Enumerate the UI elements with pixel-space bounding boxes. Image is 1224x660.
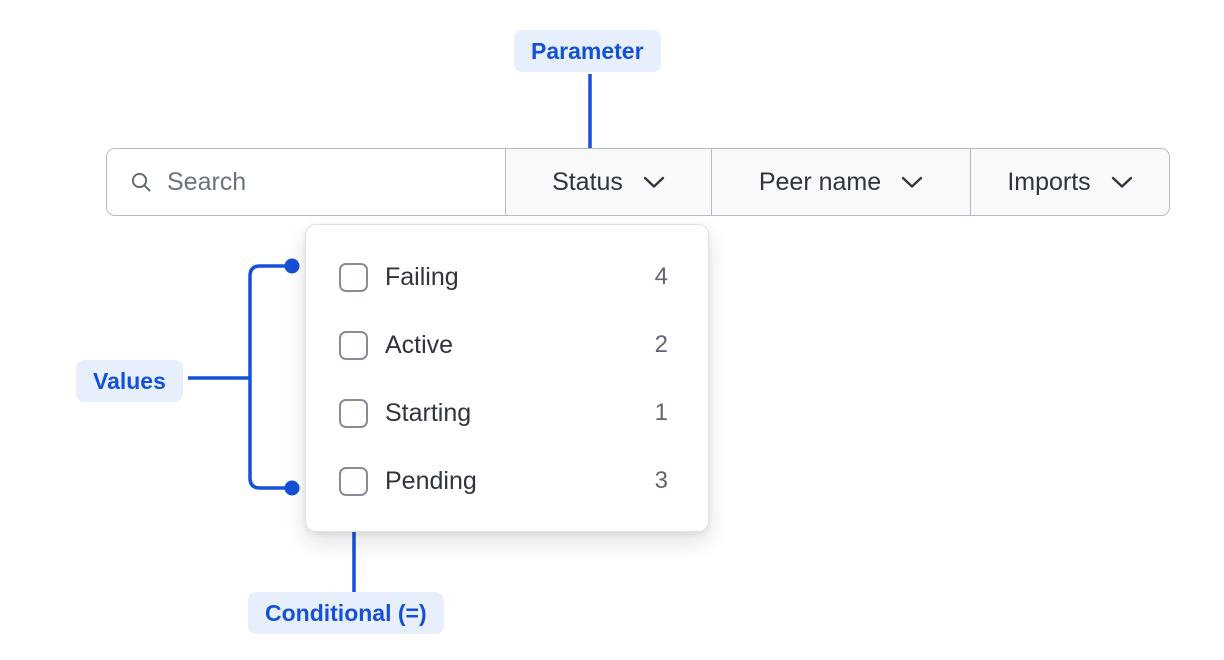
chevron-down-icon bbox=[1111, 175, 1133, 189]
dropdown-option-active[interactable]: Active 2 bbox=[306, 311, 708, 379]
option-count-active: 2 bbox=[655, 331, 668, 359]
values-bracket-top bbox=[250, 266, 285, 378]
annotation-pill-conditional: Conditional (=) bbox=[248, 592, 444, 634]
dropdown-option-failing[interactable]: Failing 4 bbox=[306, 243, 708, 311]
option-label-failing: Failing bbox=[385, 263, 655, 292]
checkbox-pending[interactable] bbox=[339, 467, 368, 496]
values-connector-dot-top bbox=[285, 259, 300, 274]
search-input[interactable] bbox=[167, 168, 467, 197]
status-filter-dropdown-panel: Failing 4 Active 2 Starting 1 Pending 3 bbox=[305, 224, 709, 532]
dropdown-option-starting[interactable]: Starting 1 bbox=[306, 379, 708, 447]
search-icon bbox=[129, 170, 153, 194]
screenshot-canvas: Parameter Values Conditional (=) Status … bbox=[0, 0, 1224, 660]
filter-label-imports: Imports bbox=[1007, 168, 1090, 197]
annotation-pill-parameter: Parameter bbox=[514, 30, 661, 72]
option-count-failing: 4 bbox=[655, 263, 668, 291]
filter-button-status[interactable]: Status bbox=[506, 149, 712, 215]
filter-button-imports[interactable]: Imports bbox=[971, 149, 1169, 215]
option-label-active: Active bbox=[385, 331, 655, 360]
annotation-pill-values: Values bbox=[76, 360, 183, 402]
option-count-starting: 1 bbox=[655, 399, 668, 427]
values-bracket-bottom bbox=[250, 378, 285, 488]
filter-toolbar: Status Peer name Imports bbox=[106, 148, 1170, 216]
values-connector-dot-bottom bbox=[285, 481, 300, 496]
filter-label-status: Status bbox=[552, 168, 623, 197]
option-count-pending: 3 bbox=[655, 467, 668, 495]
search-field[interactable] bbox=[107, 149, 506, 215]
filter-button-peer-name[interactable]: Peer name bbox=[712, 149, 971, 215]
dropdown-option-pending[interactable]: Pending 3 bbox=[306, 447, 708, 515]
checkbox-failing[interactable] bbox=[339, 263, 368, 292]
option-label-pending: Pending bbox=[385, 467, 655, 496]
checkbox-starting[interactable] bbox=[339, 399, 368, 428]
chevron-down-icon bbox=[901, 175, 923, 189]
checkbox-active[interactable] bbox=[339, 331, 368, 360]
filter-label-peer-name: Peer name bbox=[759, 168, 881, 197]
option-label-starting: Starting bbox=[385, 399, 655, 428]
chevron-down-icon bbox=[643, 175, 665, 189]
